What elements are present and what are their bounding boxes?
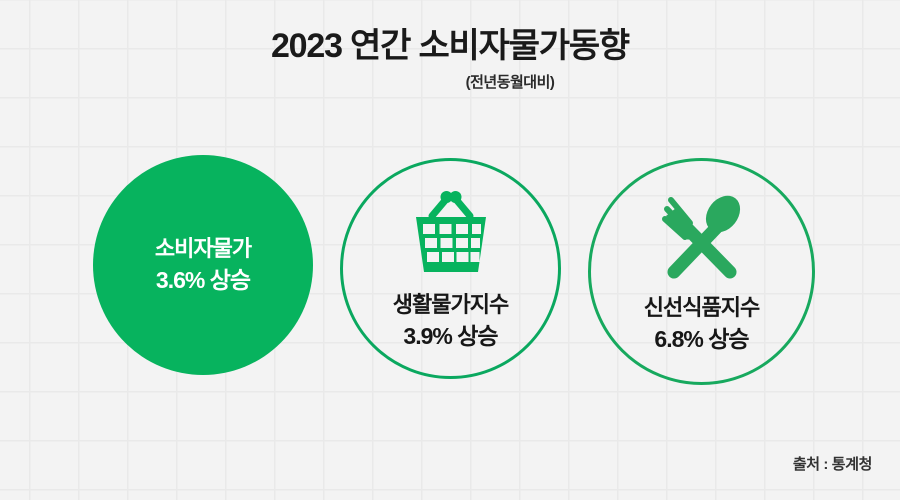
stat-circle-living-cpi: 생활물가지수 3.9% 상승	[340, 158, 561, 379]
page-title: 2023 연간 소비자물가동향	[0, 28, 900, 65]
fork-spoon-icon	[660, 188, 744, 284]
stat-value-fresh-food: 6.8% 상승	[644, 325, 759, 354]
infographic-canvas: 2023 연간 소비자물가동향 (전년동월대비) 소비자물가 3.6% 상승	[0, 0, 900, 500]
header: 2023 연간 소비자물가동향 (전년동월대비)	[0, 28, 900, 92]
stat-label-cpi: 소비자물가	[155, 235, 251, 263]
stat-label-group-cpi: 소비자물가 3.6% 상승	[155, 235, 251, 296]
source-note: 출처 : 통계청	[793, 453, 872, 474]
stat-value-living-cpi: 3.9% 상승	[393, 322, 508, 351]
stat-label-living-cpi: 생활물가지수	[393, 291, 508, 319]
stat-circle-fresh-food: 신선식품지수 6.8% 상승	[588, 158, 815, 385]
stat-label-group-fresh-food: 신선식품지수 6.8% 상승	[644, 294, 759, 355]
stat-circle-cpi: 소비자물가 3.6% 상승	[93, 155, 313, 375]
stat-label-fresh-food: 신선식품지수	[644, 294, 759, 322]
stat-value-cpi: 3.6% 상승	[155, 266, 251, 295]
shopping-basket-icon	[412, 185, 490, 281]
stat-label-group-living-cpi: 생활물가지수 3.9% 상승	[393, 291, 508, 352]
page-subtitle: (전년동월대비)	[0, 71, 900, 92]
